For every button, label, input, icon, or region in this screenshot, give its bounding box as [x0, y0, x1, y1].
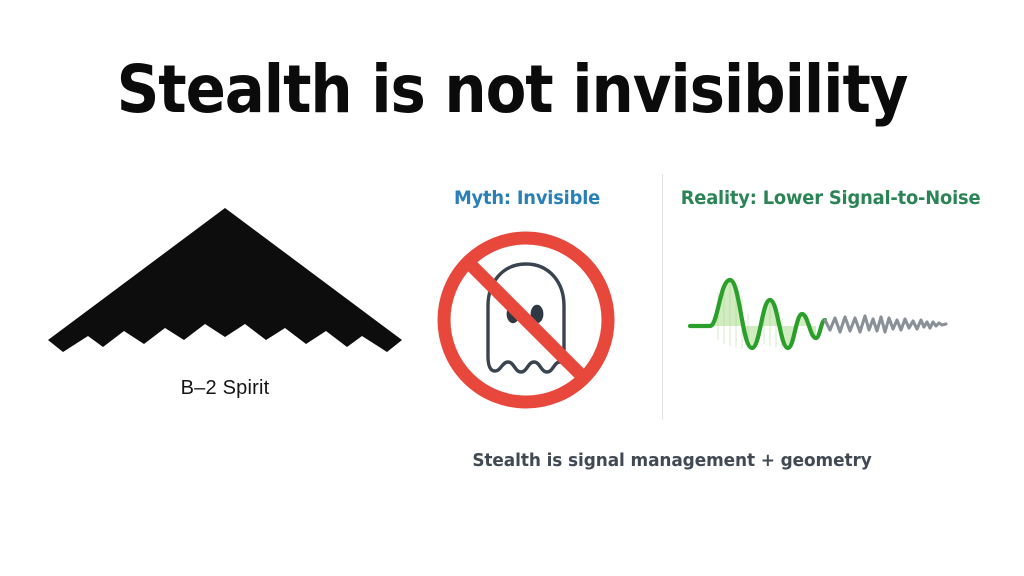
footer-caption: Stealth is signal management + geometry: [420, 450, 924, 471]
panel-divider: [662, 174, 663, 420]
signal-fill-area: [690, 280, 816, 348]
b2-wing-shape: [48, 208, 402, 352]
slide-canvas: Stealth is not invisibility B–2 Spirit M…: [0, 0, 1024, 576]
noise-gray-trace: [825, 316, 946, 332]
b2-caption-label: B–2 Spirit: [30, 377, 420, 400]
b2-bomber-icon: [30, 200, 420, 370]
page-title: Stealth is not invisibility: [51, 55, 973, 124]
reality-panel-heading: Reality: Lower Signal-to-Noise: [681, 187, 954, 209]
myth-panel-heading: Myth: Invisible: [410, 187, 645, 209]
no-ghost-icon: [432, 226, 620, 414]
signal-waveform-icon: [688, 258, 950, 358]
signal-green-trace: [690, 280, 825, 348]
